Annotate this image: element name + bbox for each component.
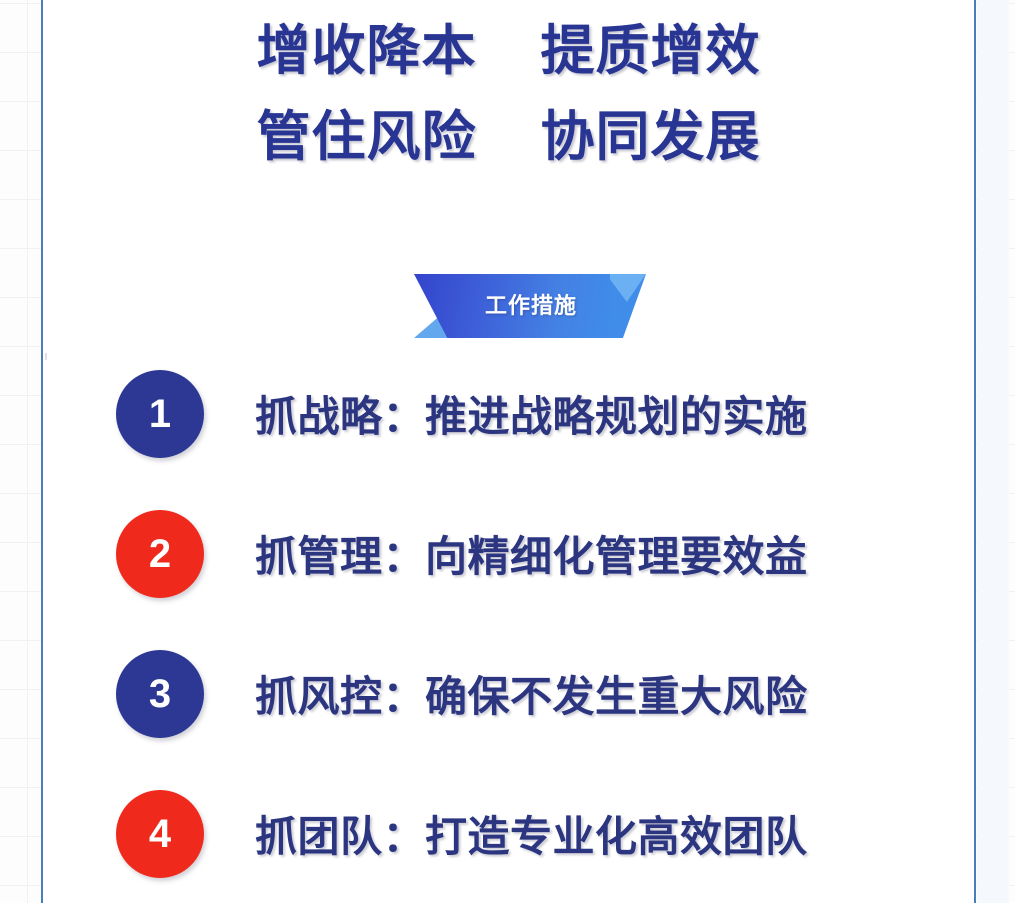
slide-headline: 增收降本 提质增效 管住风险 协同发展 bbox=[43, 8, 974, 180]
list-item[interactable]: 1 抓战略：推进战略规划的实施 bbox=[43, 370, 974, 510]
list-item[interactable]: 2 抓管理：向精细化管理要效益 bbox=[43, 510, 974, 650]
measure-number-badge-3: 3 bbox=[116, 650, 204, 738]
measure-text-1: 抓战略：推进战略规划的实施 bbox=[255, 383, 808, 444]
measure-text-2: 抓管理：向精细化管理要效益 bbox=[255, 523, 808, 584]
slide-surface[interactable]: 增收降本 提质增效 管住风险 协同发展 工作措施 1 抓战略：推进战略规划的实施… bbox=[43, 0, 974, 903]
measure-text-3: 抓风控：确保不发生重大风险 bbox=[255, 663, 808, 724]
measures-list: 1 抓战略：推进战略规划的实施 2 抓管理：向精细化管理要效益 3 抓风控：确保… bbox=[43, 370, 974, 903]
section-banner-label: 工作措施 bbox=[458, 274, 604, 338]
section-banner[interactable]: 工作措施 bbox=[414, 270, 610, 342]
list-item[interactable]: 4 抓团队：打造专业化高效团队 bbox=[43, 790, 974, 903]
measure-number-badge-2: 2 bbox=[116, 510, 204, 598]
measure-number-badge-4: 4 bbox=[116, 790, 204, 878]
list-item[interactable]: 3 抓风控：确保不发生重大风险 bbox=[43, 650, 974, 790]
measure-number-badge-1: 1 bbox=[116, 370, 204, 458]
canvas-speck-artifact bbox=[45, 353, 47, 360]
canvas-right-margin bbox=[977, 0, 1009, 903]
headline-line-1: 增收降本 提质增效 bbox=[43, 8, 974, 94]
slide-left-border bbox=[41, 0, 43, 903]
slide-right-border bbox=[974, 0, 976, 903]
headline-line-2: 管住风险 协同发展 bbox=[43, 94, 974, 180]
editor-canvas: 增收降本 提质增效 管住风险 协同发展 工作措施 1 抓战略：推进战略规划的实施… bbox=[0, 0, 1015, 903]
measure-text-4: 抓团队：打造专业化高效团队 bbox=[255, 803, 808, 864]
